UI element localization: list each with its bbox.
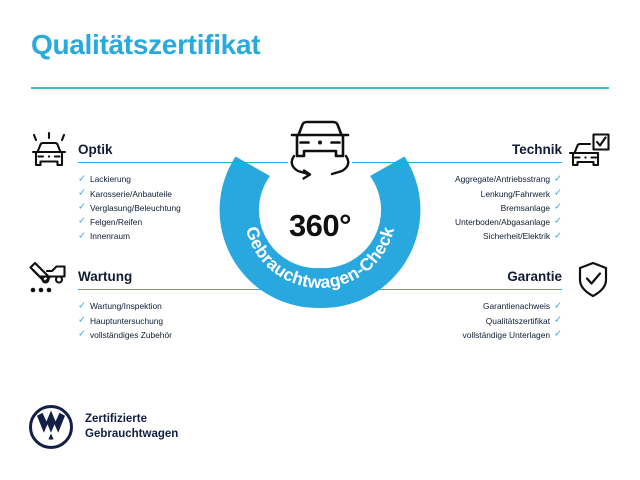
header-divider bbox=[31, 87, 609, 89]
list-item-label: Qualitätszertifikat bbox=[486, 314, 550, 328]
check-icon: ✓ bbox=[78, 174, 86, 184]
check-icon: ✓ bbox=[554, 217, 562, 227]
list-item-label: Aggregate/Antriebsstrang bbox=[455, 172, 550, 186]
list-item-label: Lenkung/Fahrwerk bbox=[481, 187, 550, 201]
list-item-label: Wartung/Inspektion bbox=[90, 299, 162, 313]
list-item-label: Verglasung/Beleuchtung bbox=[90, 201, 181, 215]
car-shine-icon bbox=[26, 131, 72, 173]
list-item-label: Felgen/Reifen bbox=[90, 215, 142, 229]
check-icon: ✓ bbox=[78, 217, 86, 227]
car-checkbox-icon bbox=[566, 131, 612, 173]
list-item: Qualitätszertifikat✓ bbox=[352, 314, 562, 328]
list-item: vollständige Unterlagen✓ bbox=[352, 328, 562, 342]
check-icon: ✓ bbox=[78, 315, 86, 325]
list-item: ✓vollständiges Zubehör bbox=[78, 328, 288, 342]
list-item: ✓Hauptuntersuchung bbox=[78, 314, 288, 328]
list-item-label: Innenraum bbox=[90, 229, 130, 243]
check-icon: ✓ bbox=[554, 203, 562, 213]
list-item-label: Karosserie/Anbauteile bbox=[90, 187, 172, 201]
vw-certified-text: Zertifizierte Gebrauchtwagen bbox=[85, 412, 178, 442]
vw-certified-lockup: Zertifizierte Gebrauchtwagen bbox=[28, 404, 178, 450]
check-icon: ✓ bbox=[554, 174, 562, 184]
check-icon: ✓ bbox=[78, 188, 86, 198]
list-item-label: Unterboden/Abgasanlage bbox=[455, 215, 550, 229]
car-service-tool-icon bbox=[26, 259, 72, 301]
list-item-label: Bremsanlage bbox=[501, 201, 550, 215]
vw-logo-icon bbox=[28, 404, 74, 450]
list-item-label: Hauptuntersuchung bbox=[90, 314, 163, 328]
quality-certificate-page: Qualitätszertifikat Optik ✓Lackierung ✓K… bbox=[0, 0, 640, 480]
check-icon: ✓ bbox=[554, 330, 562, 340]
check-icon: ✓ bbox=[554, 188, 562, 198]
vw-certified-line2: Gebrauchtwagen bbox=[85, 427, 178, 442]
check-icon: ✓ bbox=[78, 203, 86, 213]
list-item-label: Lackierung bbox=[90, 172, 131, 186]
check-icon: ✓ bbox=[554, 231, 562, 241]
vw-certified-line1: Zertifizierte bbox=[85, 412, 178, 427]
list-item-label: Sicherheit/Elektrik bbox=[483, 229, 550, 243]
360-check-badge: Gebrauchtwagen-Check 360° bbox=[222, 108, 418, 308]
shield-check-icon bbox=[570, 259, 616, 301]
list-item-label: vollständige Unterlagen bbox=[463, 328, 551, 342]
check-icon: ✓ bbox=[78, 301, 86, 311]
list-item-label: Garantienachweis bbox=[483, 299, 550, 313]
car-rotate-icon bbox=[292, 122, 349, 179]
badge-center-label: 360° bbox=[222, 210, 418, 241]
list-item-label: vollständiges Zubehör bbox=[90, 328, 172, 342]
check-icon: ✓ bbox=[78, 231, 86, 241]
check-icon: ✓ bbox=[554, 301, 562, 311]
check-icon: ✓ bbox=[78, 330, 86, 340]
page-title: Qualitätszertifikat bbox=[31, 31, 260, 59]
check-icon: ✓ bbox=[554, 315, 562, 325]
